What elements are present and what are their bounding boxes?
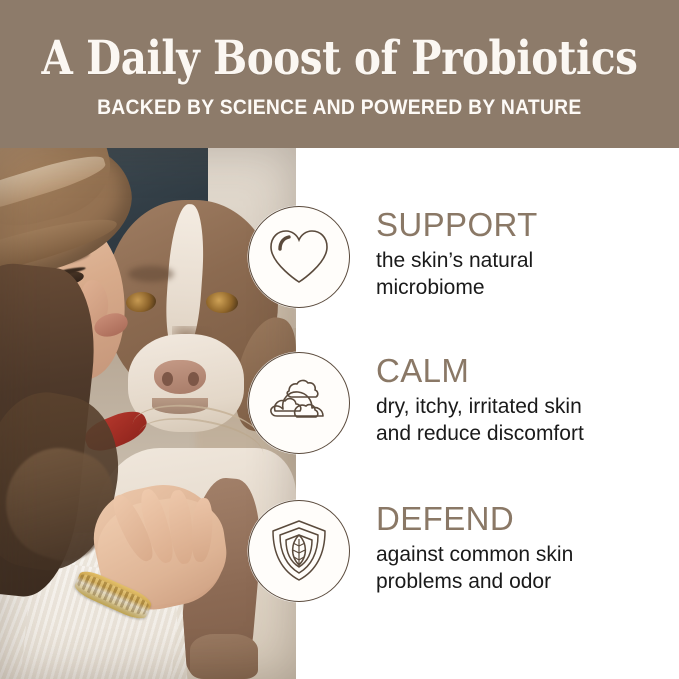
benefit-description-line: and reduce discomfort [376,421,584,448]
benefit-description-line: problems and odor [376,569,573,596]
dog-brow [128,266,174,282]
benefit-item-defend: DEFEND against common skin problems and … [248,500,573,602]
benefit-text-support: SUPPORT the skin’s natural microbiome [376,206,538,301]
benefit-description-line: against common skin [376,542,573,569]
dog-nostril-right [188,372,199,386]
benefit-description-support: the skin’s natural microbiome [376,248,538,302]
benefit-description-calm: dry, itchy, irritated skin and reduce di… [376,394,584,448]
benefit-item-support: SUPPORT the skin’s natural microbiome [248,206,538,308]
benefit-description-line: the skin’s natural [376,248,538,275]
page-subtitle: BACKED BY SCIENCE AND POWERED BY NATURE [97,96,582,120]
page-title: A Daily Boost of Probiotics [42,35,638,82]
header-banner: A Daily Boost of Probiotics BACKED BY SC… [0,0,679,148]
benefit-heading-defend: DEFEND [376,502,573,537]
heart-icon [248,206,350,308]
benefit-description-line: dry, itchy, irritated skin [376,394,584,421]
cloud-icon [248,352,350,454]
dog-paw [190,634,258,679]
benefit-item-calm: CALM dry, itchy, irritated skin and redu… [248,352,584,454]
benefit-text-defend: DEFEND against common skin problems and … [376,500,573,595]
benefit-description-defend: against common skin problems and odor [376,542,573,596]
shield-leaf-icon [248,500,350,602]
promo-image-canvas: A Daily Boost of Probiotics BACKED BY SC… [0,0,679,679]
benefit-heading-support: SUPPORT [376,208,538,243]
benefit-heading-calm: CALM [376,354,584,389]
dog-nostril-left [162,372,173,386]
benefit-description-line: microbiome [376,275,538,302]
benefit-text-calm: CALM dry, itchy, irritated skin and redu… [376,352,584,447]
